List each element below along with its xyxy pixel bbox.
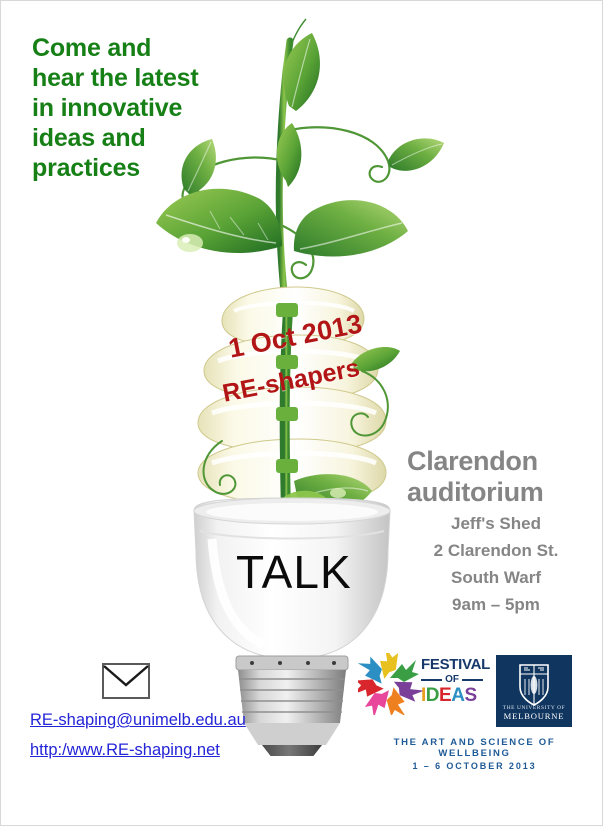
festival-tagline-line-1: THE ART AND SCIENCE OF WELLBEING <box>356 737 593 759</box>
website-link[interactable]: http:/www.RE-shaping.net <box>30 741 220 760</box>
venue-detail-1: Jeff's Shed <box>407 512 585 535</box>
festival-tagline-line-2: 1 – 6 OCTOBER 2013 <box>356 761 593 771</box>
festival-word-of: OF <box>445 674 459 685</box>
rule-left <box>421 679 442 681</box>
university-of-melbourne-logo: THE UNIVERSITY OF MELBOURNE <box>496 655 572 727</box>
festival-word-festival: FESTIVAL <box>421 656 483 673</box>
ideas-letter-a: A <box>451 685 464 706</box>
ideas-letter-e: E <box>439 685 451 706</box>
venue-block: Clarendon auditorium Jeff's Shed 2 Clare… <box>407 446 585 616</box>
venue-detail-4: 9am – 5pm <box>407 593 585 616</box>
talk-label: TALK <box>236 549 352 595</box>
rule-right <box>462 679 483 681</box>
ideas-letter-s: S <box>464 685 476 706</box>
venue-name-line-2: auditorium <box>407 477 585 508</box>
venue-detail-3: South Warf <box>407 566 585 589</box>
uom-line-2: MELBOURNE <box>504 711 565 721</box>
festival-word-ideas: IDEAS <box>421 686 483 706</box>
ideas-letter-d: D <box>426 685 439 706</box>
email-link[interactable]: RE-shaping@unimelb.edu.au <box>30 711 246 730</box>
festival-of-ideas-logo: FESTIVAL OF IDEAS <box>358 653 483 715</box>
venue-detail-2: 2 Clarendon St. <box>407 539 585 562</box>
poster-canvas: Come and hear the latest in innovative i… <box>0 0 603 826</box>
venue-name-line-1: Clarendon <box>407 446 585 477</box>
envelope-icon <box>102 663 150 704</box>
festival-tagline: THE ART AND SCIENCE OF WELLBEING 1 – 6 O… <box>356 737 593 771</box>
